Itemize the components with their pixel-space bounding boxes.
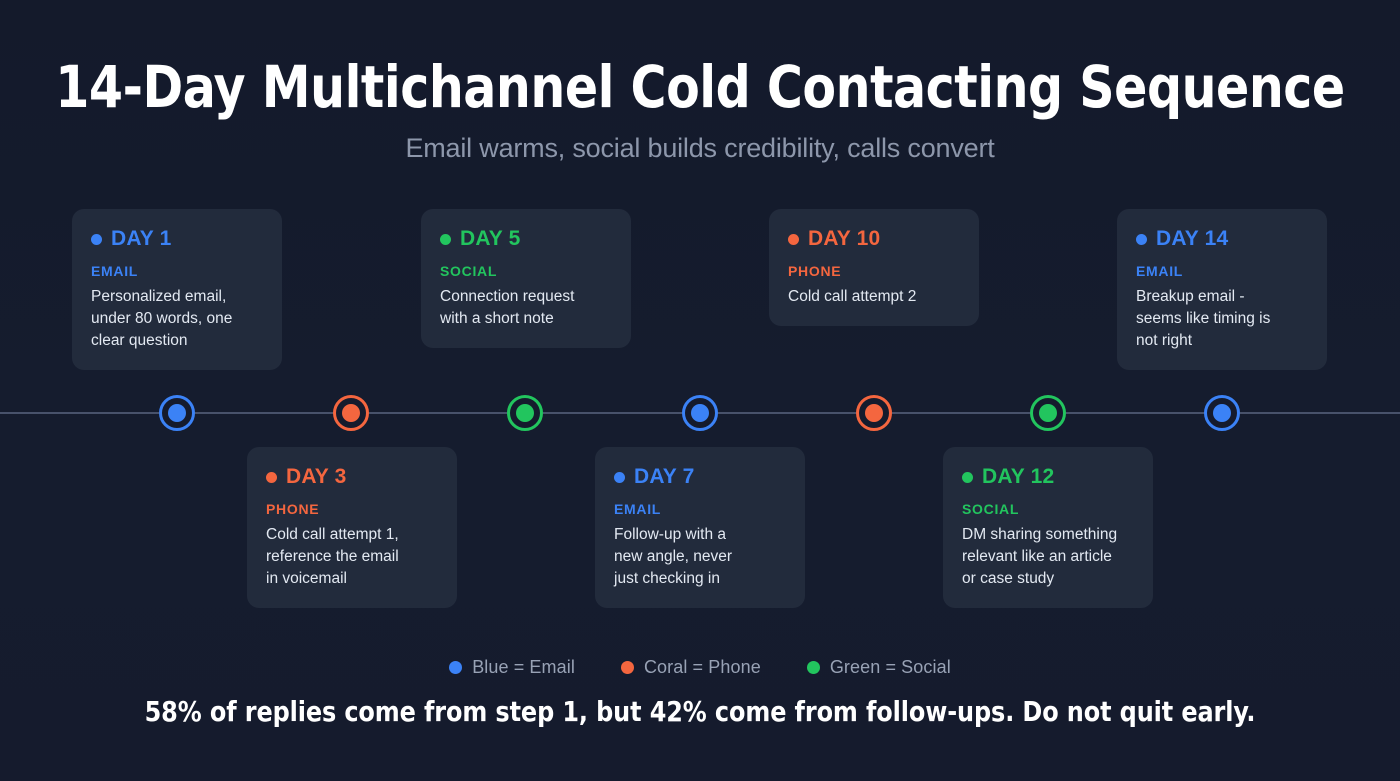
step-channel-label: SOCIAL — [962, 501, 1135, 517]
step-day-label: DAY 10 — [808, 227, 880, 251]
step-card-day-7[interactable]: DAY 7EMAILFollow-up with anew angle, nev… — [595, 447, 805, 608]
legend-dot-icon — [621, 661, 634, 674]
step-channel-label: SOCIAL — [440, 263, 613, 279]
page-title: 14-Day Multichannel Cold Contacting Sequ… — [42, 56, 1358, 119]
timeline-marker-day-3 — [333, 395, 369, 431]
step-card-header: DAY 1 — [91, 227, 264, 251]
step-card-day-1[interactable]: DAY 1EMAILPersonalized email,under 80 wo… — [72, 209, 282, 370]
timeline-marker-day-10 — [856, 395, 892, 431]
step-card-day-10[interactable]: DAY 10PHONECold call attempt 2 — [769, 209, 979, 326]
timeline-marker-day-14 — [1204, 395, 1240, 431]
marker-ring-icon — [1030, 395, 1066, 431]
step-description: Follow-up with anew angle, neverjust che… — [614, 524, 787, 590]
step-card-day-14[interactable]: DAY 14EMAILBreakup email -seems like tim… — [1117, 209, 1327, 370]
step-card-day-12[interactable]: DAY 12SOCIALDM sharing somethingrelevant… — [943, 447, 1153, 608]
step-card-day-5[interactable]: DAY 5SOCIALConnection requestwith a shor… — [421, 209, 631, 348]
step-description: Cold call attempt 2 — [788, 286, 961, 308]
step-day-label: DAY 1 — [111, 227, 172, 251]
step-channel-label: PHONE — [266, 501, 439, 517]
page-subtitle: Email warms, social builds credibility, … — [0, 133, 1400, 164]
channel-dot-icon — [1136, 234, 1147, 245]
step-channel-label: EMAIL — [91, 263, 264, 279]
step-description: Connection requestwith a short note — [440, 286, 613, 330]
legend-label: Green = Social — [830, 657, 951, 678]
marker-ring-icon — [682, 395, 718, 431]
marker-ring-icon — [507, 395, 543, 431]
step-card-header: DAY 7 — [614, 465, 787, 489]
step-description: Breakup email -seems like timing isnot r… — [1136, 286, 1309, 352]
legend-label: Blue = Email — [472, 657, 575, 678]
marker-ring-icon — [159, 395, 195, 431]
channel-dot-icon — [788, 234, 799, 245]
timeline-marker-day-1 — [159, 395, 195, 431]
channel-dot-icon — [266, 472, 277, 483]
step-card-header: DAY 14 — [1136, 227, 1309, 251]
legend-item-phone: Coral = Phone — [621, 657, 761, 678]
timeline-marker-day-12 — [1030, 395, 1066, 431]
timeline-marker-day-5 — [507, 395, 543, 431]
step-card-header: DAY 10 — [788, 227, 961, 251]
step-day-label: DAY 14 — [1156, 227, 1228, 251]
marker-ring-icon — [333, 395, 369, 431]
step-channel-label: PHONE — [788, 263, 961, 279]
legend-item-email: Blue = Email — [449, 657, 575, 678]
marker-ring-icon — [1204, 395, 1240, 431]
step-day-label: DAY 5 — [460, 227, 521, 251]
channel-dot-icon — [614, 472, 625, 483]
legend-dot-icon — [807, 661, 820, 674]
header: 14-Day Multichannel Cold Contacting Sequ… — [0, 56, 1400, 164]
step-description: DM sharing somethingrelevant like an art… — [962, 524, 1135, 590]
channel-dot-icon — [440, 234, 451, 245]
step-card-header: DAY 12 — [962, 465, 1135, 489]
step-channel-label: EMAIL — [1136, 263, 1309, 279]
legend-dot-icon — [449, 661, 462, 674]
infographic-canvas: 14-Day Multichannel Cold Contacting Sequ… — [0, 0, 1400, 781]
step-card-day-3[interactable]: DAY 3PHONECold call attempt 1,reference … — [247, 447, 457, 608]
channel-dot-icon — [962, 472, 973, 483]
step-day-label: DAY 3 — [286, 465, 347, 489]
timeline-marker-day-7 — [682, 395, 718, 431]
step-description: Cold call attempt 1,reference the emaili… — [266, 524, 439, 590]
legend-label: Coral = Phone — [644, 657, 761, 678]
step-description: Personalized email,under 80 words, onecl… — [91, 286, 264, 352]
marker-ring-icon — [856, 395, 892, 431]
footer-statistic: 58% of replies come from step 1, but 42%… — [35, 695, 1365, 728]
step-card-header: DAY 5 — [440, 227, 613, 251]
step-channel-label: EMAIL — [614, 501, 787, 517]
step-day-label: DAY 7 — [634, 465, 695, 489]
step-day-label: DAY 12 — [982, 465, 1054, 489]
legend-item-social: Green = Social — [807, 657, 951, 678]
step-card-header: DAY 3 — [266, 465, 439, 489]
legend: Blue = EmailCoral = PhoneGreen = Social — [0, 657, 1400, 678]
channel-dot-icon — [91, 234, 102, 245]
